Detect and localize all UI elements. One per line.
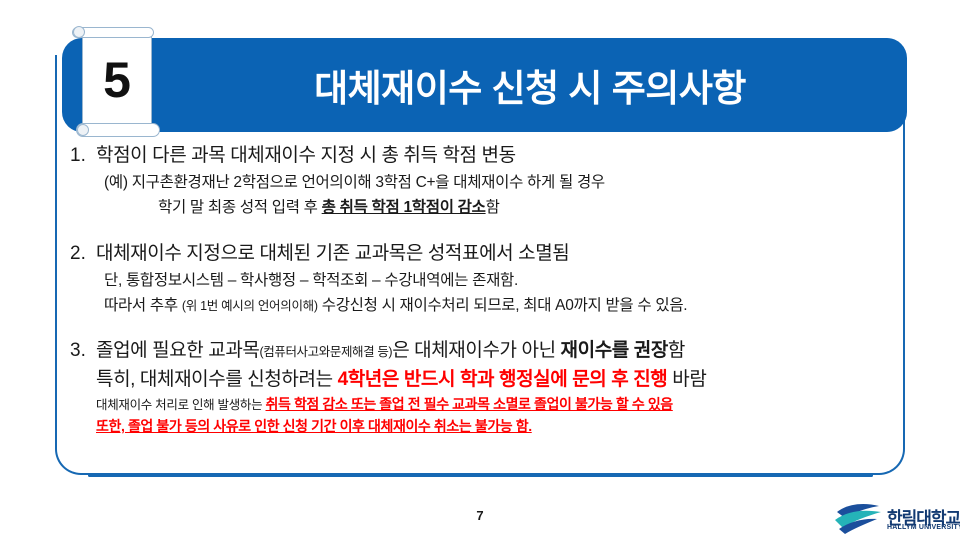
item2-detail-prefix: 따라서 추후: [104, 297, 182, 314]
frame-bottom-accent: [88, 474, 873, 477]
list-item-number: 3.: [62, 337, 96, 365]
item1-lead: 학점이 다른 과목 대체재이수 지정 시 총 취득 학점 변동: [96, 142, 902, 170]
section-number-badge: 5: [72, 26, 160, 140]
item1-result-line: 학기 말 최종 성적 입력 후 총 취득 학점 1학점이 감소함: [96, 195, 902, 220]
wave-mark-icon: [833, 498, 885, 536]
list-item-body: 학점이 다른 과목 대체재이수 지정 시 총 취득 학점 변동 (예) 지구촌환…: [96, 142, 902, 220]
item3-warning-line: 특히, 대체재이수를 신청하려는 4학년은 반드시 학과 행정실에 문의 후 진…: [96, 366, 902, 394]
item3-red-note-1-prefix: 대체재이수 처리로 인해 발생하는: [96, 398, 266, 412]
item3-warning-suffix: 바람: [667, 369, 706, 390]
item3-warning-emphasis: 4학년은 반드시 학과 행정실에 문의 후 진행: [338, 369, 668, 390]
item3-lead-middle: 은 대체재이수가 아닌: [392, 340, 560, 361]
item3-lead-parenthetical: (컴퓨터사고와문제해결 등): [259, 345, 392, 359]
item3-red-note-2: 또한, 졸업 불가 등의 사유로 인한 신청 기간 이후 대체재이수 취소는 불…: [96, 416, 902, 437]
item1-result-emphasis: 총 취득 학점 1학점이 감소: [322, 199, 486, 216]
item3-warning-prefix: 특히, 대체재이수를 신청하려는: [96, 369, 338, 390]
list-item-body: 졸업에 필요한 교과목(컴퓨터사고와문제해결 등)은 대체재이수가 아닌 재이수…: [96, 337, 902, 437]
slide-root: 대체재이수 신청 시 주의사항 5 1. 학점이 다른 과목 대체재이수 지정 …: [0, 0, 960, 540]
page-number-label: 7: [0, 508, 960, 523]
spacer: [62, 319, 902, 337]
university-logo: 한림대학교 HALLYM UNIVERSITY: [833, 498, 955, 540]
item3-lead: 졸업에 필요한 교과목(컴퓨터사고와문제해결 등)은 대체재이수가 아닌 재이수…: [96, 337, 902, 366]
item1-result-prefix: 학기 말 최종 성적 입력 후: [158, 199, 322, 216]
item3-lead-suffix: 함: [668, 340, 685, 361]
logo-name-en: HALLYM UNIVERSITY: [887, 524, 960, 531]
list-item: 3. 졸업에 필요한 교과목(컴퓨터사고와문제해결 등)은 대체재이수가 아닌 …: [62, 337, 902, 437]
section-number-label: 5: [82, 31, 152, 129]
item3-red-note-1: 대체재이수 처리로 인해 발생하는 취득 학점 감소 또는 졸업 전 필수 교과…: [96, 394, 902, 416]
list-item: 1. 학점이 다른 과목 대체재이수 지정 시 총 취득 학점 변동 (예) 지…: [62, 142, 902, 220]
item2-lead: 대체재이수 지정으로 대체된 기존 교과목은 성적표에서 소멸됨: [96, 240, 902, 268]
item3-lead-emphasis: 재이수를 권장: [561, 340, 668, 361]
list-item-number: 2.: [62, 240, 96, 268]
item2-note-line: 단, 통합정보시스템 – 학사행정 – 학적조회 – 수강내역에는 존재함.: [96, 268, 902, 293]
page-title: 대체재이수 신청 시 주의사항: [160, 38, 900, 132]
item2-detail-parenthetical: (위 1번 예시의 언어의이해): [182, 299, 318, 313]
item3-red-note-1-emphasis: 취득 학점 감소 또는 졸업 전 필수 교과목 소멸로 졸업이 불가능 할 수 …: [266, 396, 673, 412]
spacer: [62, 220, 902, 240]
list-item-number: 1.: [62, 142, 96, 170]
body-content: 1. 학점이 다른 과목 대체재이수 지정 시 총 취득 학점 변동 (예) 지…: [62, 142, 902, 437]
item3-lead-prefix: 졸업에 필요한 교과목: [96, 340, 259, 361]
list-item: 2. 대체재이수 지정으로 대체된 기존 교과목은 성적표에서 소멸됨 단, 통…: [62, 240, 902, 319]
item1-example-line: (예) 지구촌환경재난 2학점으로 언어의이해 3학점 C+을 대체재이수 하게…: [96, 170, 902, 195]
item2-detail-line: 따라서 추후 (위 1번 예시의 언어의이해) 수강신청 시 재이수처리 되므로…: [96, 293, 902, 319]
list-item-body: 대체재이수 지정으로 대체된 기존 교과목은 성적표에서 소멸됨 단, 통합정보…: [96, 240, 902, 319]
item2-detail-suffix: 수강신청 시 재이수처리 되므로, 최대 A0까지 받을 수 있음.: [318, 297, 688, 314]
item1-result-suffix: 함: [486, 199, 500, 216]
